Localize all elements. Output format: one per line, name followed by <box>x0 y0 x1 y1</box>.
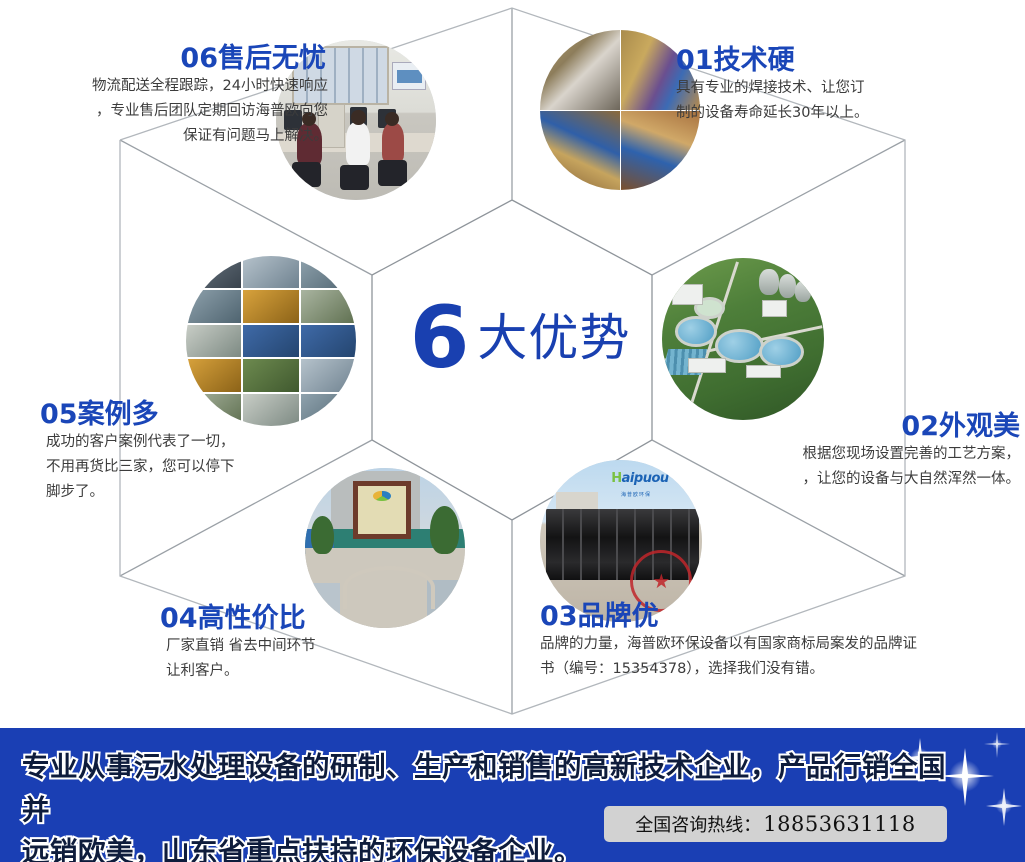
advantage-01-line-1: 具有专业的焊接技术、让您订 <box>676 76 996 101</box>
equipment-photo: Haipuou 海普欧环保 <box>540 460 702 622</box>
advantage-04-line-2: 让利客户。 <box>166 659 490 684</box>
advantage-04-body: 厂家直销 省去中间环节 让利客户。 <box>160 634 490 685</box>
infographic-stage: 6 大优势 Haipuou 海普欧环保 <box>0 0 1025 862</box>
advantage-01-body: 具有专业的焊接技术、让您订 制的设备寿命延长30年以上。 <box>676 76 996 127</box>
advantage-block-01: 01技术硬 具有专业的焊接技术、让您订 制的设备寿命延长30年以上。 <box>676 46 996 126</box>
advantage-05-line-1: 成功的客户案例代表了一切， <box>46 430 340 455</box>
advantage-06-heading: 06售后无忧 <box>28 44 328 74</box>
advantage-03-line-2: 书（编号：15354378），选择我们没有错。 <box>540 657 1010 682</box>
advantage-02-line-2: ，让您的设备与大自然浑然一体。 <box>700 467 1020 492</box>
advantage-block-02: 02外观美 根据您现场设置完善的工艺方案， ，让您的设备与大自然浑然一体。 <box>700 412 1020 492</box>
center-label: 6 大优势 <box>390 288 650 388</box>
advantage-04-line-1: 厂家直销 省去中间环节 <box>166 634 490 659</box>
brand-logo-sub: 海普欧环保 <box>621 491 651 498</box>
advantage-03-heading: 03品牌优 <box>540 602 1010 632</box>
banner-text: 专业从事污水处理设备的研制、生产和销售的高新技术企业，产品行销全国并 远销欧美，… <box>22 746 962 862</box>
advantage-06-line-2: ，专业售后团队定期回访海普欧向您 <box>28 99 328 124</box>
advantage-01-line-2: 制的设备寿命延长30年以上。 <box>676 101 996 126</box>
advantage-06-line-3: 保证有问题马上解决。 <box>28 124 328 149</box>
brand-logo: Haipuou <box>611 471 668 486</box>
advantage-02-heading: 02外观美 <box>700 412 1020 442</box>
advantage-04-heading: 04高性价比 <box>160 604 490 634</box>
advantage-block-06: 06售后无忧 物流配送全程跟踪，24小时快速响应 ，专业售后团队定期回访海普欧向… <box>28 44 328 150</box>
center-text: 大优势 <box>477 313 630 363</box>
advantage-03-line-1: 品牌的力量，海普欧环保设备以有国家商标局案发的品牌证 <box>540 632 1010 657</box>
advantage-block-05: 05案例多 成功的客户案例代表了一切， 不用再货比三家，您可以停下 脚步了。 <box>40 400 340 506</box>
advantage-block-04: 04高性价比 厂家直销 省去中间环节 让利客户。 <box>160 604 490 684</box>
advantage-05-line-3: 脚步了。 <box>46 480 340 505</box>
advantage-02-line-1: 根据您现场设置完善的工艺方案， <box>700 442 1020 467</box>
hotline-box[interactable]: 全国咨询热线： 18853631118 <box>604 806 947 842</box>
advantage-05-line-2: 不用再货比三家，您可以停下 <box>46 455 340 480</box>
advantage-05-body: 成功的客户案例代表了一切， 不用再货比三家，您可以停下 脚步了。 <box>40 430 340 506</box>
photo-circle-03-brand-equipment: Haipuou 海普欧环保 <box>540 460 702 622</box>
center-number: 6 <box>410 295 468 381</box>
photo-circle-02-aerial-plant <box>662 258 824 420</box>
advantage-06-line-1: 物流配送全程跟踪，24小时快速响应 <box>28 74 328 99</box>
advantage-03-body: 品牌的力量，海普欧环保设备以有国家商标局案发的品牌证 书（编号：15354378… <box>540 632 1010 683</box>
advantage-06-body: 物流配送全程跟踪，24小时快速响应 ，专业售后团队定期回访海普欧向您 保证有问题… <box>28 74 328 150</box>
advantage-01-heading: 01技术硬 <box>676 46 996 76</box>
advantage-block-03: 03品牌优 品牌的力量，海普欧环保设备以有国家商标局案发的品牌证 书（编号：15… <box>540 602 1010 682</box>
hotline-label: 全国咨询热线： <box>635 811 761 837</box>
advantage-05-heading: 05案例多 <box>40 400 340 430</box>
hotline-number: 18853631118 <box>763 812 915 836</box>
advantage-02-body: 根据您现场设置完善的工艺方案， ，让您的设备与大自然浑然一体。 <box>700 442 1020 493</box>
aerial-plant-photo <box>662 258 824 420</box>
